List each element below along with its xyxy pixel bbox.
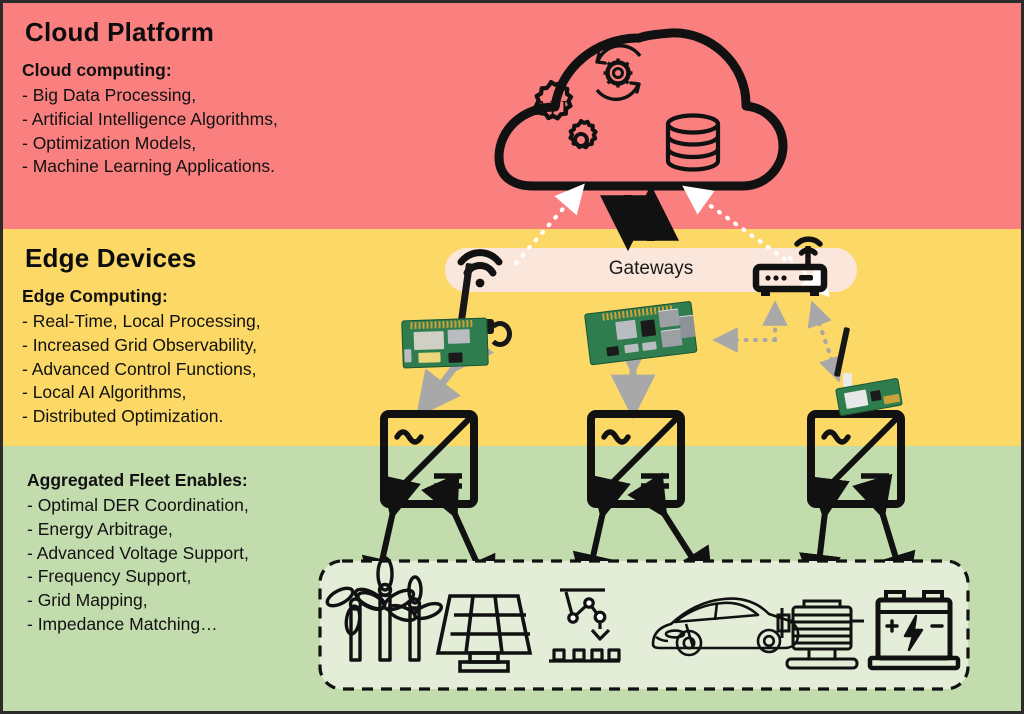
inverter-center [591, 414, 681, 504]
diagram-canvas: Cloud Platform Cloud computing: - Big Da… [0, 0, 1024, 714]
soc-center [615, 320, 637, 340]
edge-connector-right [883, 394, 900, 405]
chip-left [414, 331, 445, 350]
connector-left [404, 349, 411, 362]
api-label: API [534, 96, 568, 120]
usb-port-2 [661, 328, 683, 347]
edge-board-right [823, 369, 909, 421]
ram-center [640, 319, 656, 337]
refresh-gear-icon [597, 46, 640, 100]
edge-board-center [584, 297, 701, 374]
cloud-edge-bidirectional-arrows [628, 195, 651, 241]
diagram-artwork: API [3, 3, 1024, 714]
database-icon [668, 116, 718, 170]
module-left [448, 329, 470, 344]
usb-c-center [606, 346, 619, 356]
router-device-links [717, 305, 838, 378]
label-left [418, 352, 440, 363]
gateway-to-cloud-links [516, 188, 826, 293]
board-inverter-links [421, 368, 633, 411]
api-gear-icon: API [534, 82, 596, 147]
ethernet-port [679, 315, 696, 339]
inverter-right [811, 414, 901, 504]
pcb-center [584, 301, 698, 366]
hdmi-center [624, 344, 639, 354]
shield-right [844, 389, 868, 409]
gpio-header-left [410, 320, 472, 329]
pcb-left [401, 318, 489, 369]
antenna-cable-left [488, 321, 512, 347]
port-left [448, 352, 462, 362]
chip-right [870, 390, 882, 402]
hdmi2-center [642, 341, 657, 351]
usb-port-1 [658, 308, 680, 327]
edge-board-left [402, 305, 505, 367]
inverter-left [384, 414, 474, 504]
